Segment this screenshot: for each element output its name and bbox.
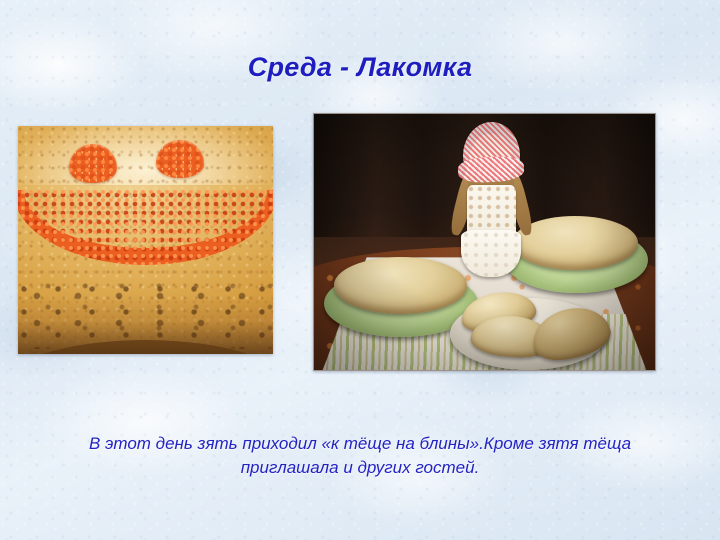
table-scene-illustration (314, 114, 655, 370)
slide-caption: В этот день зять приходил «к тёще на бли… (48, 432, 672, 480)
pancake-bubble-holes (18, 281, 273, 349)
pancake-illustration (18, 126, 273, 354)
image-pancake-caviar-smiley (18, 126, 273, 354)
slide-canvas: Среда - Лакомка (0, 0, 720, 540)
image-table-blini-doll (313, 113, 656, 371)
slide-title: Среда - Лакомка (0, 52, 720, 83)
photo-vignette (314, 114, 655, 370)
